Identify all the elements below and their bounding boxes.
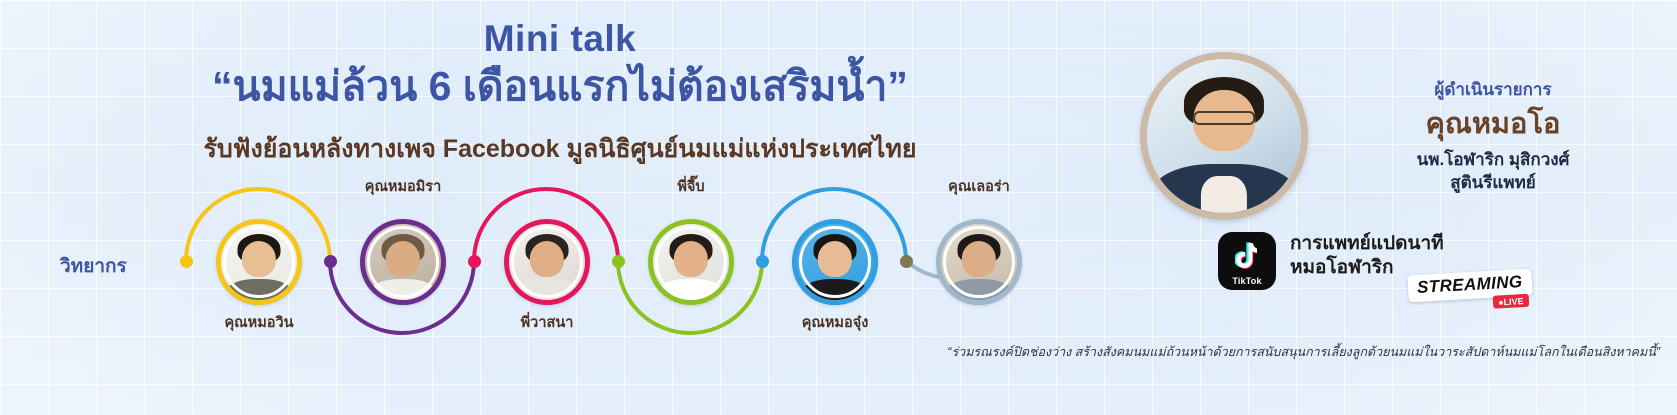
connector-dot [612, 255, 625, 268]
host-panel: ผู้ดำเนินรายการ คุณหมอโอ นพ.โอฬาริก มุสิ… [1130, 48, 1670, 248]
streaming-badge: STREAMING ●LIVE [1407, 269, 1532, 303]
host-specialty: สูตินรีแพทย์ [1318, 172, 1668, 195]
host-nickname: คุณหมอโอ [1318, 109, 1668, 141]
connector-dot [180, 255, 193, 268]
host-full-name: นพ.โอฬาริก มุสิกวงศ์ [1318, 149, 1668, 172]
speaker-ring [504, 219, 590, 305]
host-role-label: ผู้ดำเนินรายการ [1318, 76, 1668, 103]
headline-block: Mini talk “นมแม่ล้วน 6 เดือนแรกไม่ต้องเส… [0, 18, 1120, 165]
event-banner: Mini talk “นมแม่ล้วน 6 เดือนแรกไม่ต้องเส… [0, 0, 1677, 415]
streaming-label: STREAMING [1416, 272, 1523, 297]
tiktok-wordmark: TikTok [1218, 276, 1276, 286]
connector-dot [900, 255, 913, 268]
tiktok-note-glyph [1235, 242, 1257, 272]
speaker-name-5: คุณหมอจุ๋ง [760, 311, 910, 334]
footer-note: “ร่วมรณรงค์ปิดช่องว่าง สร้างสังคมนมแม่ถ้… [840, 342, 1660, 362]
speakers-section: วิทยากร คุณหมอว [0, 183, 1030, 358]
speaker-avatar-6[interactable] [936, 219, 1022, 305]
speaker-avatar-2[interactable] [360, 219, 446, 305]
speaker-name-3: พี่วาสนา [472, 311, 622, 334]
subtitle-text: รับฟังย้อนหลังทางเพจ Facebook มูลนิธิศูน… [0, 133, 1120, 166]
speaker-avatar-1[interactable] [216, 219, 302, 305]
speaker-ring [792, 219, 878, 305]
speaker-ring [360, 219, 446, 305]
host-text-block: ผู้ดำเนินรายการ คุณหมอโอ นพ.โอฬาริก มุสิ… [1318, 76, 1668, 195]
host-avatar[interactable] [1140, 52, 1308, 220]
tiktok-channel-name: การแพทย์แปดนาที หมอโอฬาริก [1290, 232, 1444, 280]
speaker-ring [216, 219, 302, 305]
tiktok-row[interactable]: TikTok การแพทย์แปดนาที หมอโอฬาริก STREAM… [1218, 232, 1276, 302]
host-portrait [1147, 59, 1301, 213]
eyebrow-text: Mini talk [0, 18, 1120, 59]
glasses-icon [1193, 111, 1255, 125]
connector-dot [324, 255, 337, 268]
speaker-ring [648, 219, 734, 305]
tiktok-icon[interactable]: TikTok [1218, 232, 1276, 290]
speaker-avatar-5[interactable] [792, 219, 878, 305]
speaker-avatar-3[interactable] [504, 219, 590, 305]
speaker-name-4: พี่จี๊บ [616, 175, 766, 198]
speaker-name-1: คุณหมอวิน [184, 311, 334, 334]
connector-dot [756, 255, 769, 268]
tiktok-channel-line-1: การแพทย์แปดนาที [1290, 232, 1444, 256]
speaker-ring [936, 219, 1022, 305]
speaker-avatar-4[interactable] [648, 219, 734, 305]
page-title: “นมแม่ล้วน 6 เดือนแรกไม่ต้องเสริมน้ำ” [0, 61, 1120, 112]
speaker-name-6: คุณเลอร่า [904, 175, 1054, 198]
speaker-name-2: คุณหมอมิรา [328, 175, 478, 198]
connector-dot [468, 255, 481, 268]
live-badge: ●LIVE [1493, 294, 1529, 309]
